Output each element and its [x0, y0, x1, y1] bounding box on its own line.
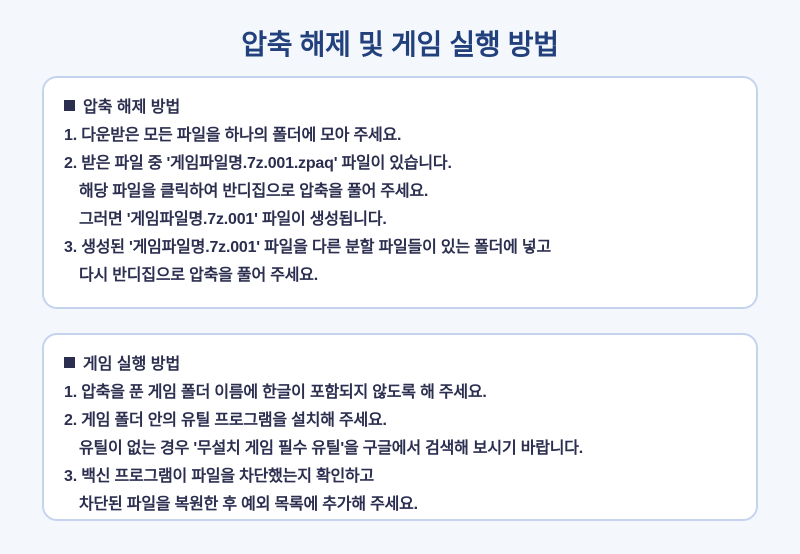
- step-line: 유틸이 없는 경우 '무설치 게임 필수 유틸'을 구글에서 검색해 보시기 바…: [64, 435, 736, 463]
- step-line: 1. 압축을 푼 게임 폴더 이름에 한글이 포함되지 않도록 해 주세요.: [64, 379, 736, 407]
- card-unzip-instructions: 압축 해제 방법 1. 다운받은 모든 파일을 하나의 폴더에 모아 주세요. …: [42, 76, 758, 309]
- card-unzip-body: 압축 해제 방법 1. 다운받은 모든 파일을 하나의 폴더에 모아 주세요. …: [44, 78, 756, 304]
- step-line: 차단된 파일을 복원한 후 예외 목록에 추가해 주세요.: [64, 491, 736, 519]
- section-heading-run-label: 게임 실행 방법: [83, 351, 180, 379]
- section-heading-run: 게임 실행 방법: [64, 351, 736, 379]
- step-line: 그러면 '게임파일명.7z.001' 파일이 생성됩니다.: [64, 206, 736, 234]
- square-bullet-icon: [64, 357, 75, 368]
- section-heading-unzip: 압축 해제 방법: [64, 94, 736, 122]
- square-bullet-icon: [64, 100, 75, 111]
- step-line: 2. 받은 파일 중 '게임파일명.7z.001.zpaq' 파일이 있습니다.: [64, 150, 736, 178]
- step-line: 2. 게임 폴더 안의 유틸 프로그램을 설치해 주세요.: [64, 407, 736, 435]
- guide-page: 압축 해제 및 게임 실행 방법 압축 해제 방법 1. 다운받은 모든 파일을…: [0, 0, 800, 554]
- step-line: 3. 생성된 '게임파일명.7z.001' 파일을 다른 분할 파일들이 있는 …: [64, 234, 736, 262]
- page-title: 압축 해제 및 게임 실행 방법: [0, 23, 800, 63]
- card-run-instructions: 게임 실행 방법 1. 압축을 푼 게임 폴더 이름에 한글이 포함되지 않도록…: [42, 333, 758, 521]
- step-line: 3. 백신 프로그램이 파일을 차단했는지 확인하고: [64, 463, 736, 491]
- step-line: 1. 다운받은 모든 파일을 하나의 폴더에 모아 주세요.: [64, 122, 736, 150]
- step-line: 해당 파일을 클릭하여 반디집으로 압축을 풀어 주세요.: [64, 178, 736, 206]
- card-run-body: 게임 실행 방법 1. 압축을 푼 게임 폴더 이름에 한글이 포함되지 않도록…: [44, 335, 756, 533]
- step-line: 다시 반디집으로 압축을 풀어 주세요.: [64, 262, 736, 290]
- section-heading-unzip-label: 압축 해제 방법: [83, 94, 180, 122]
